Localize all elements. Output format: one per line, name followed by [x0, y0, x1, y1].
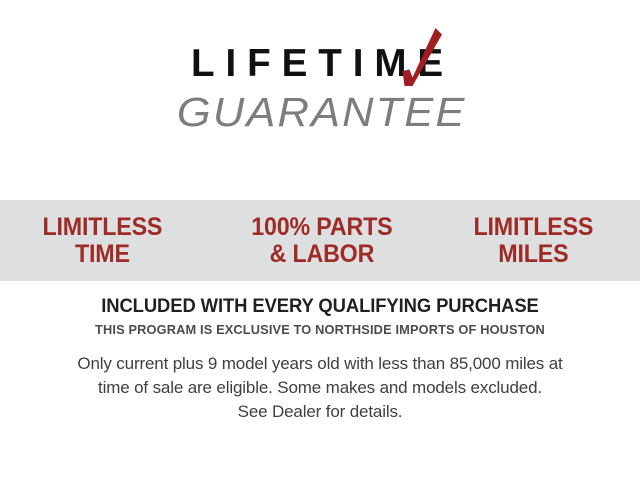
benefit-column-limitless-miles: LIMITLESS MILES [474, 214, 594, 267]
fineprint-line: Only current plus 9 model years old with… [0, 352, 640, 376]
fineprint-line: time of sale are eligible. Some makes an… [0, 376, 640, 400]
benefit-column-limitless-time: LIMITLESS TIME [43, 214, 163, 267]
lower-copy-block: INCLUDED WITH EVERY QUALIFYING PURCHASE … [0, 296, 640, 424]
benefit-line-1: LIMITLESS [474, 213, 594, 241]
subheadline-text: THIS PROGRAM IS EXCLUSIVE TO NORTHSIDE I… [10, 322, 631, 338]
benefit-line-2: & LABOR [251, 241, 392, 268]
benefit-line-2: TIME [43, 241, 163, 268]
logo-primary-text: LIFETIME [183, 44, 457, 83]
benefits-band: LIMITLESS TIME 100% PARTS & LABOR LIMITL… [0, 200, 640, 281]
benefit-line-1: LIMITLESS [43, 213, 163, 241]
logo-secondary-text: GUARANTEE [173, 92, 467, 133]
headline-text: INCLUDED WITH EVERY QUALIFYING PURCHASE [10, 296, 631, 318]
fineprint-line: See Dealer for details. [0, 400, 640, 424]
fineprint-block: Only current plus 9 model years old with… [0, 352, 640, 424]
lifetime-guarantee-ad: LIFETIME GUARANTEE LIMITLESS TIME 100% P… [0, 0, 640, 480]
benefit-line-2: MILES [474, 241, 594, 268]
logo-block: LIFETIME GUARANTEE [0, 44, 640, 133]
logo-lockup: LIFETIME GUARANTEE [181, 44, 458, 133]
benefit-line-1: 100% PARTS [251, 213, 392, 241]
benefit-column-parts-labor: 100% PARTS & LABOR [251, 214, 392, 267]
